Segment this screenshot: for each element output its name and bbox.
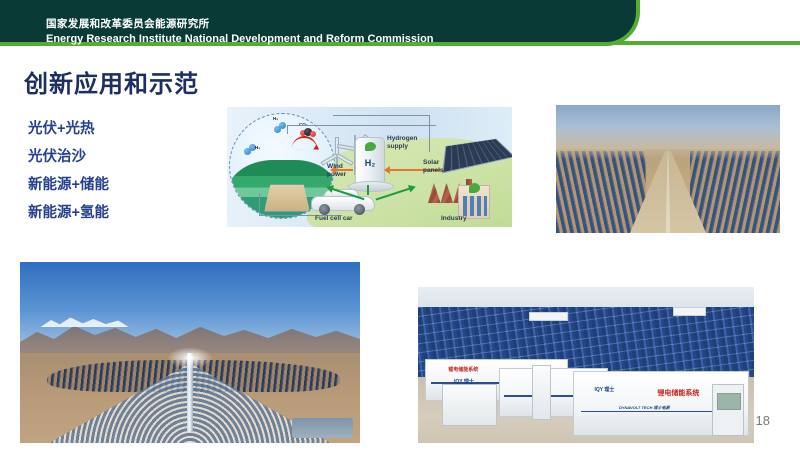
container-label-cn: 锂电储能系统 — [657, 388, 699, 398]
sky — [556, 105, 780, 151]
horizon-haze — [556, 146, 780, 159]
tank-outlet — [367, 185, 369, 195]
label-fuel-cell-car: Fuel cell car — [315, 215, 353, 223]
desert-photovoltaic-farm-photo — [556, 105, 780, 233]
bullet-item-pv-csp: 光伏+光热 — [28, 115, 208, 143]
hvac-unit — [532, 365, 551, 420]
label-wind-power: Wind power — [327, 163, 346, 178]
label-solar-panels: Solar panels — [423, 159, 444, 174]
pv-array-right — [690, 151, 780, 233]
distant-container — [529, 312, 568, 321]
bullet-item-re-storage: 新能源+储能 — [28, 171, 208, 199]
container-brand: IQY 理士 — [595, 386, 615, 393]
co2-flow-arrow — [291, 135, 318, 152]
service-area — [292, 418, 353, 438]
concentrated-solar-power-tower-photo — [20, 262, 360, 443]
receiver-glow — [167, 347, 213, 369]
organization-name: 国家发展和改革委员会能源研究所 Energy Research Institut… — [46, 17, 434, 47]
tank-h2-label: H₂ — [356, 158, 384, 168]
container-label-cn: 锂电储能系统 — [448, 366, 478, 373]
bullet-item-pv-sand: 光伏治沙 — [28, 143, 208, 171]
container-brand-en: DYNAVOLT TECH 理士电源 — [619, 405, 670, 411]
connector-wire — [287, 125, 436, 134]
organization-name-en: Energy Research Institute National Devel… — [46, 32, 434, 47]
hydrogen-economy-diagram: H₂ H₂ CO₂ H₂ — [227, 107, 512, 227]
organization-name-cn: 国家发展和改革委员会能源研究所 — [46, 17, 434, 31]
pv-array-left — [556, 151, 646, 233]
bullet-list: 光伏+光热 光伏治沙 新能源+储能 新能源+氢能 — [28, 115, 208, 227]
label-industry: Industry — [441, 215, 467, 223]
leaf-icon — [469, 183, 480, 193]
page-number: 18 — [756, 413, 770, 428]
page-title: 创新应用和示范 — [24, 64, 199, 99]
industry-factory-icon — [428, 179, 490, 219]
control-panel-cabinet — [712, 384, 744, 436]
transformer-unit — [442, 384, 498, 427]
bullet-item-re-hydrogen: 新能源+氢能 — [28, 199, 208, 227]
connector-wire — [259, 193, 342, 216]
label-hydrogen-supply: Hydrogen supply — [387, 135, 417, 150]
battery-energy-storage-containers-photo: 锂电储能系统 IQY 理士 IQY 理士 锂电储能系统 DYNAVOLT TEC… — [418, 287, 754, 443]
distant-container — [673, 307, 705, 316]
